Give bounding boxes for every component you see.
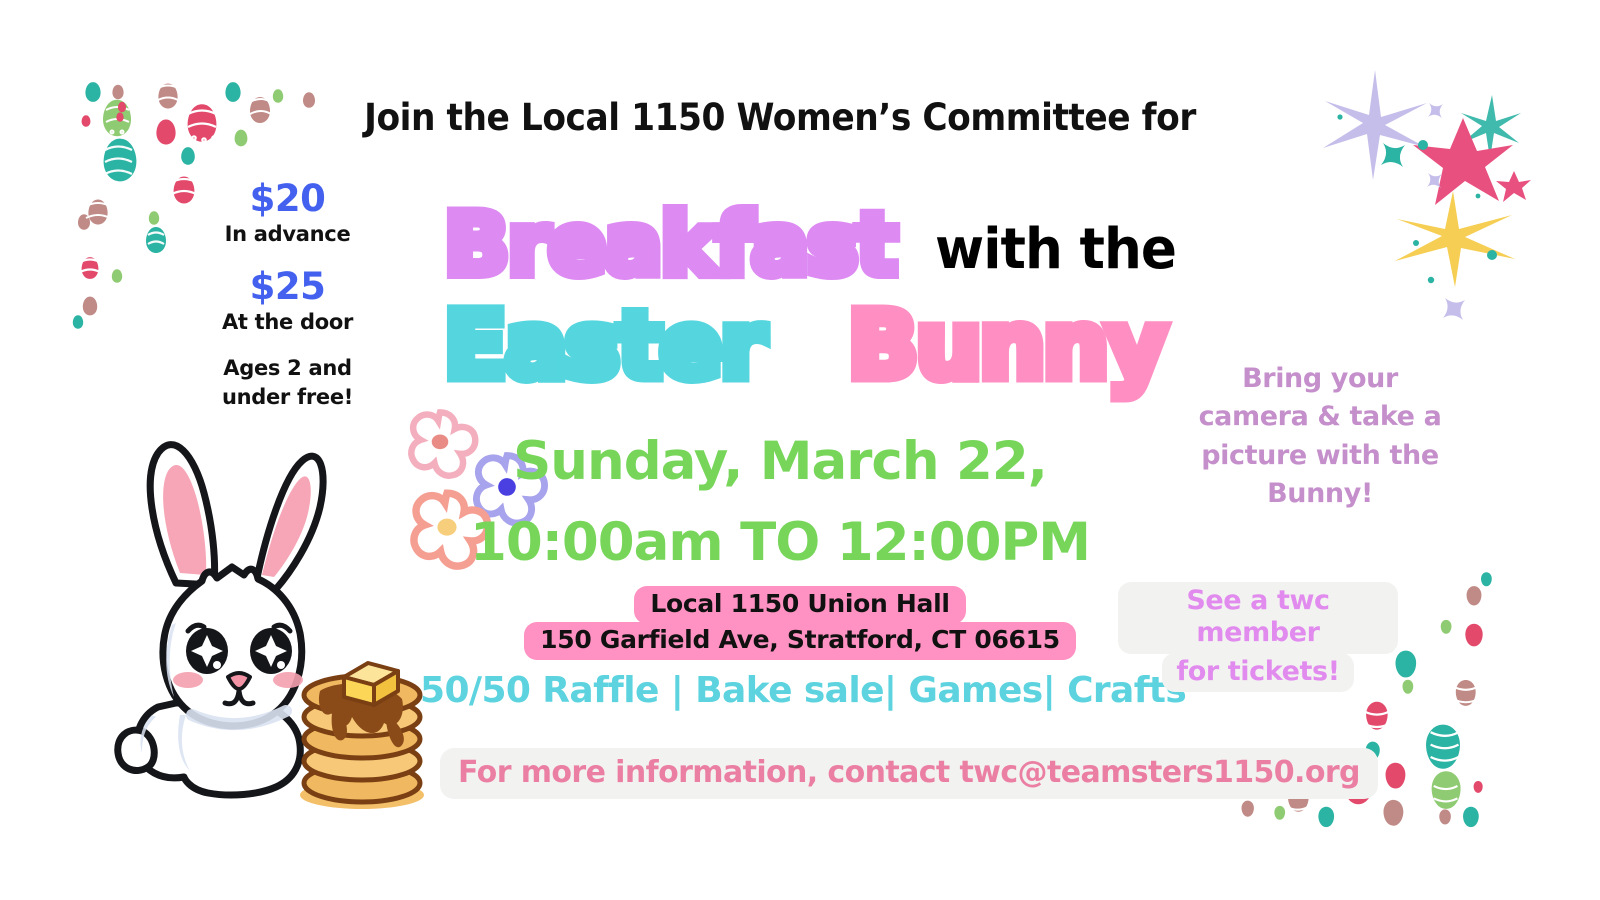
title-word-with-the: with the [935,222,1176,278]
sparkle-star-cluster [1285,55,1575,355]
door-price-amount: $25 [195,268,380,307]
sparkle-pink-star-small [1496,171,1531,202]
bunny-ear-right [256,456,323,589]
tickets-note-line2: for tickets! [1162,653,1353,692]
contact-block: For more information, contact twc@teamst… [440,748,1200,799]
title-word-easter: Easter [444,300,763,392]
bunny-body [137,703,300,795]
bunny-blush-left [173,672,203,688]
easter-bunny-illustration [80,415,440,815]
butter-cube [344,663,398,705]
venue-block: Local 1150 Union Hall 150 Garfield Ave, … [520,586,1080,660]
sparkle-teal-star [1461,95,1521,159]
sparkle-yellow-star [1395,191,1515,287]
door-price-caption: At the door [195,309,380,336]
venue-name: Local 1150 Union Hall [634,586,965,624]
event-date: Sunday, March 22, [430,422,1130,503]
syrup-drizzle [319,683,403,733]
bunny-ear-left [150,445,214,585]
sparkle-teal-diamond [1381,143,1405,167]
venue-address: 150 Garfield Ave, Stratford, CT 06615 [524,622,1076,660]
page-headline: Join the Local 1150 Women’s Committee fo… [334,96,1227,139]
advance-price-amount: $20 [195,180,380,219]
title-word-bunny: Bunny [848,300,1165,392]
title-word-breakfast: Breakfast [444,202,895,288]
event-time: 10:00am TO 12:00PM [430,503,1130,584]
pricing-block: $20 In advance $25 At the door Ages 2 an… [195,180,380,411]
camera-note: Bring your camera & take a picture with … [1190,360,1450,513]
easter-flyer: Join the Local 1150 Women’s Committee fo… [0,0,1600,900]
pancake-stack-illustration [300,663,424,809]
pancake-2 [304,698,420,736]
tickets-note-line1: See a twc member [1118,582,1398,654]
pancake-4 [304,742,420,780]
contact-email-line[interactable]: For more information, contact twc@teamst… [440,748,1378,799]
bunny-mouth [225,691,253,704]
advance-price-caption: In advance [195,221,380,248]
event-date-block: Sunday, March 22, 10:00am TO 12:00PM [430,422,1130,583]
bunny-blush-right [273,672,303,688]
sparkle-dots [1337,114,1497,283]
pancake-3 [304,720,420,758]
bunny-eye-left [186,625,228,674]
sparkle-pink-star [1413,118,1513,205]
pancake-5 [304,764,420,802]
bunny-head [163,567,302,726]
free-age-note: Ages 2 and under free! [195,354,380,411]
bunny-nose [228,673,250,689]
sparkle-lavender-star [1323,70,1427,180]
bunny-eye-right [250,625,292,674]
sparkle-lavender-diamond [1427,103,1465,320]
activities-list: 50/50 Raffle | Bake sale| Games| Crafts [420,670,1180,711]
pancake-1 [304,676,420,714]
tickets-note: See a twc member for tickets! [1118,582,1398,692]
bunny-tail [118,730,154,770]
